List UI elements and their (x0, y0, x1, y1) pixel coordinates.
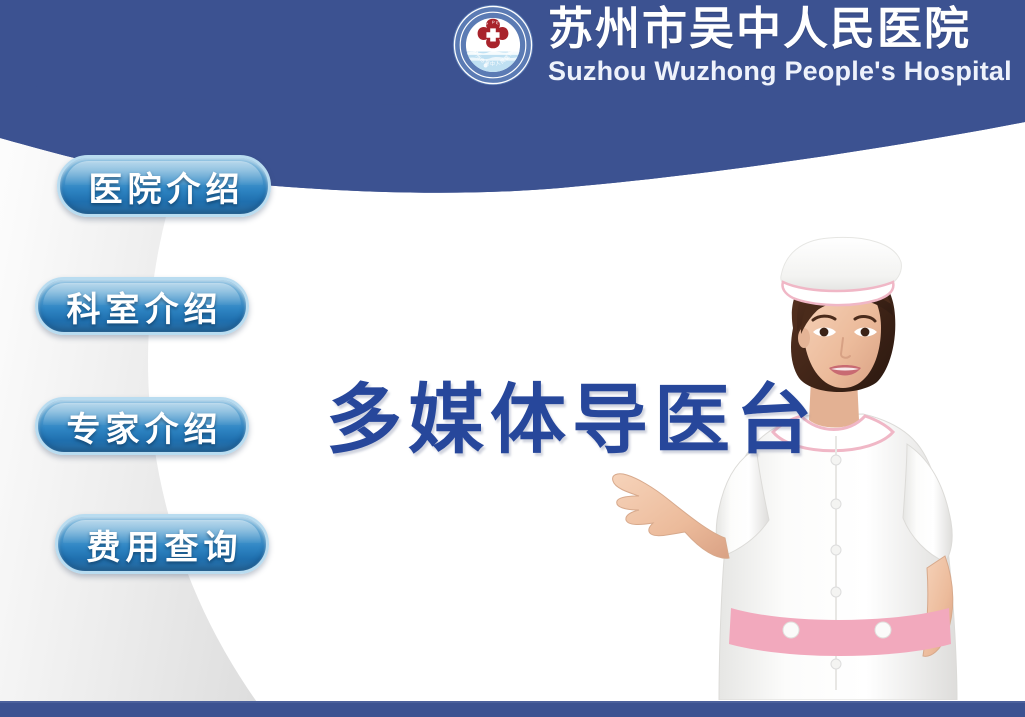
sidebar-item-label: 医院介绍 (84, 162, 245, 211)
sidebar-item-department-intro[interactable]: 科室介绍 (35, 277, 249, 335)
hospital-name-en: Suzhou Wuzhong People's Hospital (548, 58, 1012, 85)
hospital-seal-logo: SUZHOU WUZHONG PEOPLE'S HOSPITAL 苏州市吴中人民… (452, 4, 534, 86)
hospital-name-cn: 苏州市吴中人民医院 (548, 6, 1012, 51)
sidebar-item-label: 费用查询 (82, 520, 243, 569)
kiosk-screen: SUZHOU WUZHONG PEOPLE'S HOSPITAL 苏州市吴中人民… (0, 0, 1025, 717)
sidebar-item-expert-intro[interactable]: 专家介绍 (35, 397, 249, 455)
sidebar-item-fee-inquiry[interactable]: 费用查询 (55, 514, 269, 574)
sidebar-item-hospital-intro[interactable]: 医院介绍 (57, 155, 271, 217)
page-title: 多媒体导医台 (326, 358, 818, 468)
brand-lockup: SUZHOU WUZHONG PEOPLE'S HOSPITAL 苏州市吴中人民… (452, 4, 1012, 86)
sidebar-item-label: 专家介绍 (62, 402, 223, 451)
sidebar-item-label: 科室介绍 (62, 282, 223, 331)
sidebar-nav: 医院介绍 科室介绍 专家介绍 费用查询 (0, 0, 330, 717)
